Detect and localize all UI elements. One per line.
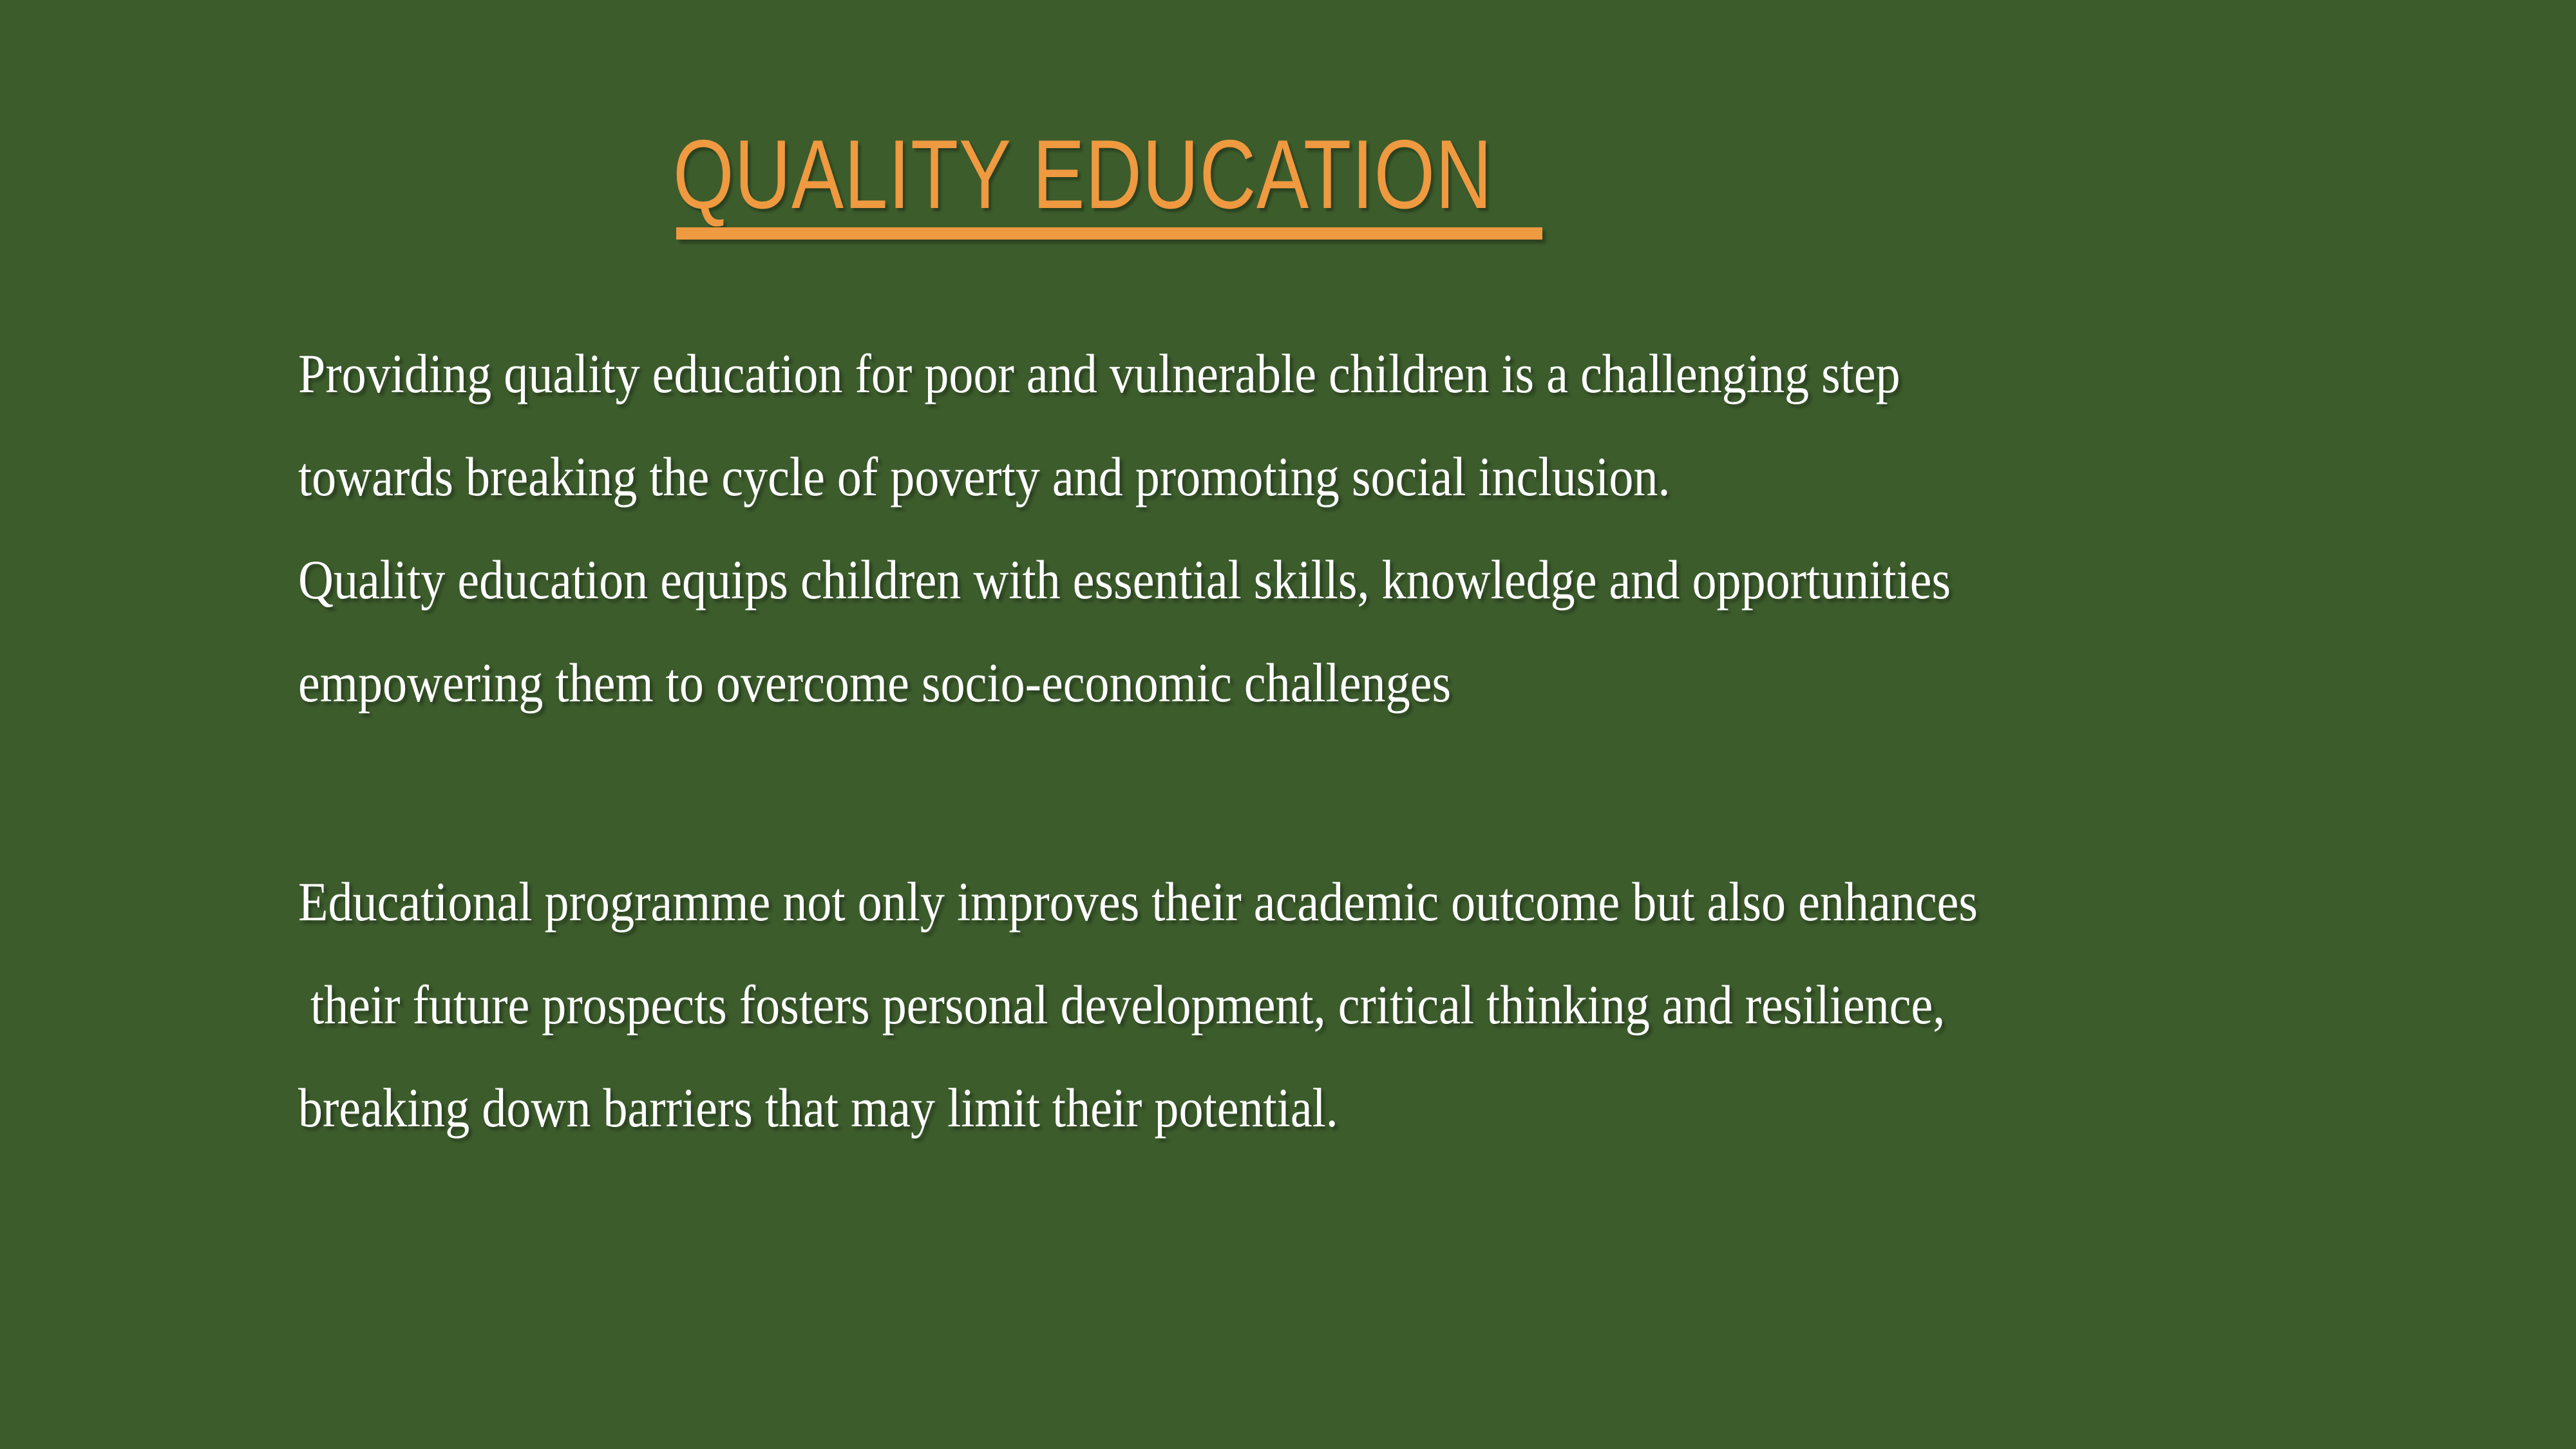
title-block: QUALITY EDUCATION bbox=[673, 126, 2219, 223]
body-line: Educational programme not only improves … bbox=[298, 850, 2208, 953]
paragraph-spacer bbox=[298, 734, 2456, 850]
body-line: breaking down barriers that may limit th… bbox=[298, 1056, 2208, 1159]
body-line: empowering them to overcome socio-econom… bbox=[298, 631, 2208, 734]
body-paragraph-1: Providing quality education for poor and… bbox=[298, 322, 2456, 734]
page-title: QUALITY EDUCATION bbox=[673, 126, 1515, 223]
body-paragraph-2: Educational programme not only improves … bbox=[298, 850, 2456, 1159]
presentation-slide: QUALITY EDUCATION Providing quality educ… bbox=[0, 0, 2576, 1449]
body-line: their future prospects fosters personal … bbox=[298, 953, 2208, 1056]
title-underline bbox=[676, 227, 1542, 240]
body-line: Quality education equips children with e… bbox=[298, 528, 2208, 631]
slide-body: Providing quality education for poor and… bbox=[298, 322, 2456, 1159]
body-line: Providing quality education for poor and… bbox=[298, 322, 2208, 425]
body-line: towards breaking the cycle of poverty an… bbox=[298, 425, 2208, 528]
